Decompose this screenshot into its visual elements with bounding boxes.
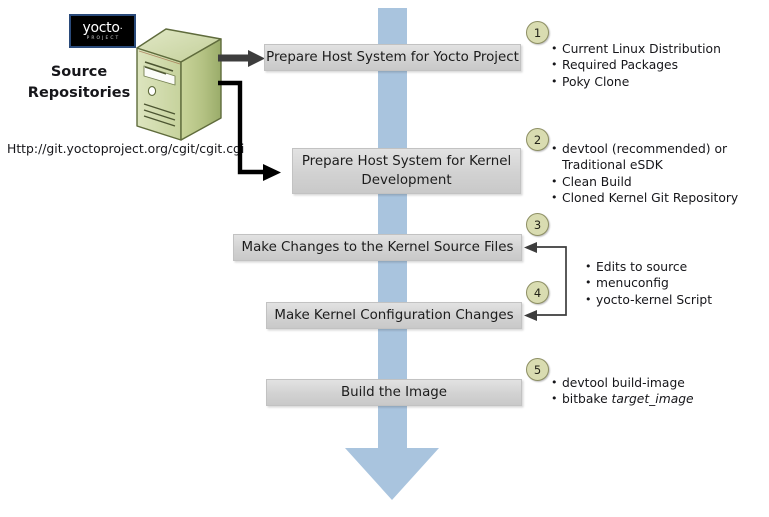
step-2-bullet-list: devtool (recommended) or Traditional eSD… bbox=[548, 141, 738, 207]
step-number-2-value: 2 bbox=[534, 133, 541, 147]
step-number-2: 2 bbox=[526, 128, 549, 151]
step-number-1: 1 bbox=[526, 21, 549, 44]
process-box-step-2[interactable]: Prepare Host System for Kernel Developme… bbox=[292, 148, 521, 194]
list-item-italic-value: target_image bbox=[612, 392, 694, 406]
main-flow-arrow-head bbox=[345, 448, 439, 500]
list-item: Current Linux Distribution bbox=[562, 41, 721, 57]
source-repositories-label: Source Repositories bbox=[14, 62, 144, 104]
process-box-step-4[interactable]: Make Kernel Configuration Changes bbox=[266, 302, 522, 329]
list-item: Cloned Kernel Git Repository bbox=[562, 190, 738, 206]
source-repositories-label-line2: Repositories bbox=[14, 83, 144, 104]
process-box-step-4-label: Make Kernel Configuration Changes bbox=[274, 306, 513, 325]
list-item-prefix: bitbake bbox=[562, 392, 612, 406]
source-repositories-label-line1: Source bbox=[14, 62, 144, 83]
yocto-logo-text: yocto bbox=[83, 20, 120, 36]
step-number-5-value: 5 bbox=[534, 363, 541, 377]
step-5-bullet-list: devtool build-image bitbake target_image bbox=[548, 375, 694, 408]
list-item: Edits to source bbox=[596, 259, 712, 275]
step-number-3-value: 3 bbox=[534, 218, 541, 232]
process-box-step-3[interactable]: Make Changes to the Kernel Source Files bbox=[233, 234, 522, 261]
yocto-logo-subtext: PROJECT bbox=[87, 37, 121, 41]
list-item: Poky Clone bbox=[562, 74, 721, 90]
step-1-bullet-list: Current Linux Distribution Required Pack… bbox=[548, 41, 721, 90]
process-box-step-5-label: Build the Image bbox=[341, 383, 447, 402]
diagram-canvas: yocto· PROJECT Source Repositories Http:… bbox=[0, 0, 769, 517]
process-box-step-5[interactable]: Build the Image bbox=[266, 379, 522, 406]
steps-3-4-bullet-list: Edits to source menuconfig yocto-kernel … bbox=[582, 259, 712, 308]
step-number-3: 3 bbox=[526, 213, 549, 236]
process-box-step-1[interactable]: Prepare Host System for Yocto Project bbox=[264, 44, 521, 71]
connector-bracket-steps-3-4 bbox=[524, 242, 566, 321]
list-item: devtool build-image bbox=[562, 375, 694, 391]
yocto-project-logo: yocto· PROJECT bbox=[69, 14, 136, 48]
connector-server-to-step2 bbox=[218, 83, 281, 181]
list-item: Clean Build bbox=[562, 174, 738, 190]
step-number-4: 4 bbox=[526, 281, 549, 304]
list-item: menuconfig bbox=[596, 275, 712, 291]
process-box-step-1-label: Prepare Host System for Yocto Project bbox=[266, 48, 519, 67]
list-item: Required Packages bbox=[562, 57, 721, 73]
list-item: devtool (recommended) or Traditional eSD… bbox=[562, 141, 738, 174]
process-box-step-3-label: Make Changes to the Kernel Source Files bbox=[242, 238, 514, 257]
yocto-logo-dot: · bbox=[120, 24, 123, 35]
step-number-5: 5 bbox=[526, 358, 549, 381]
connector-server-to-step1 bbox=[218, 50, 265, 67]
yocto-logo-wordmark: yocto· bbox=[83, 21, 123, 35]
step-number-1-value: 1 bbox=[534, 26, 541, 40]
list-item: bitbake target_image bbox=[562, 391, 694, 407]
process-box-step-2-label: Prepare Host System for Kernel Developme… bbox=[293, 152, 520, 190]
source-repositories-url: Http://git.yoctoproject.org/cgit/cgit.cg… bbox=[7, 141, 244, 156]
list-item: yocto-kernel Script bbox=[596, 292, 712, 308]
server-tower-icon bbox=[135, 26, 223, 143]
step-number-4-value: 4 bbox=[534, 286, 541, 300]
